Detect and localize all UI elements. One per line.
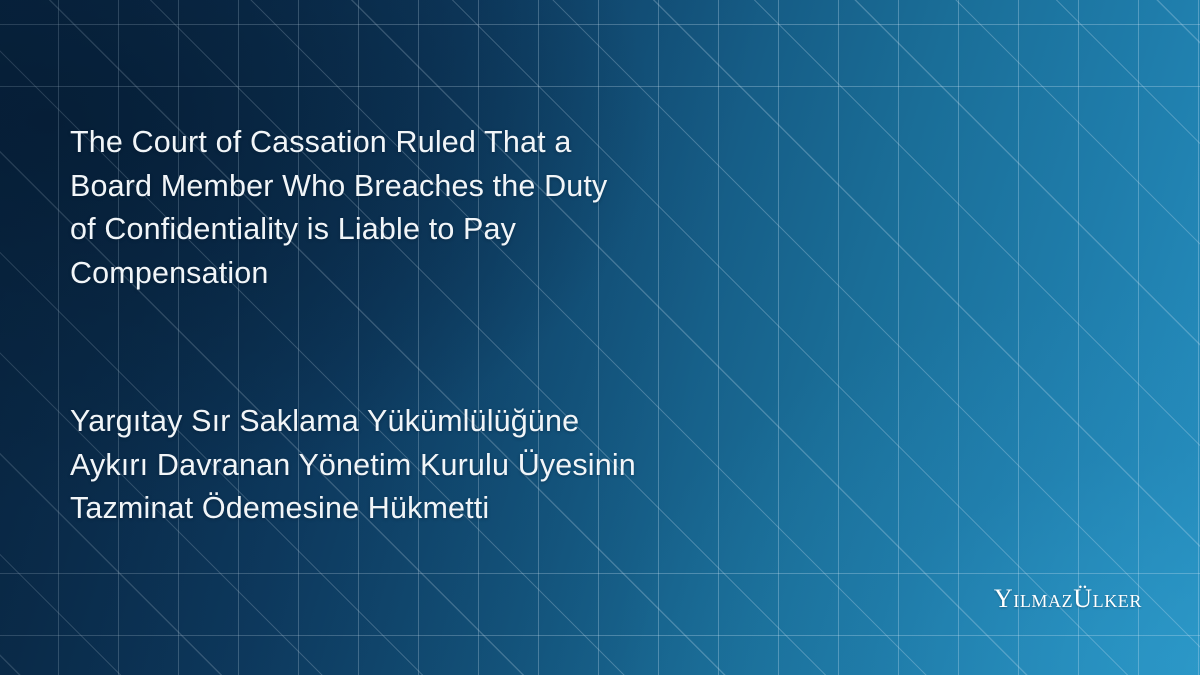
presentation-slide: The Court of Cassation Ruled That a Boar… (0, 0, 1200, 675)
headline-turkish: Yargıtay Sır Saklama Yükümlülüğüne Aykır… (70, 400, 710, 531)
company-logo: YilmazÜlker (994, 584, 1142, 614)
slide-content: The Court of Cassation Ruled That a Boar… (70, 0, 710, 675)
headline-english: The Court of Cassation Ruled That a Boar… (70, 121, 690, 295)
